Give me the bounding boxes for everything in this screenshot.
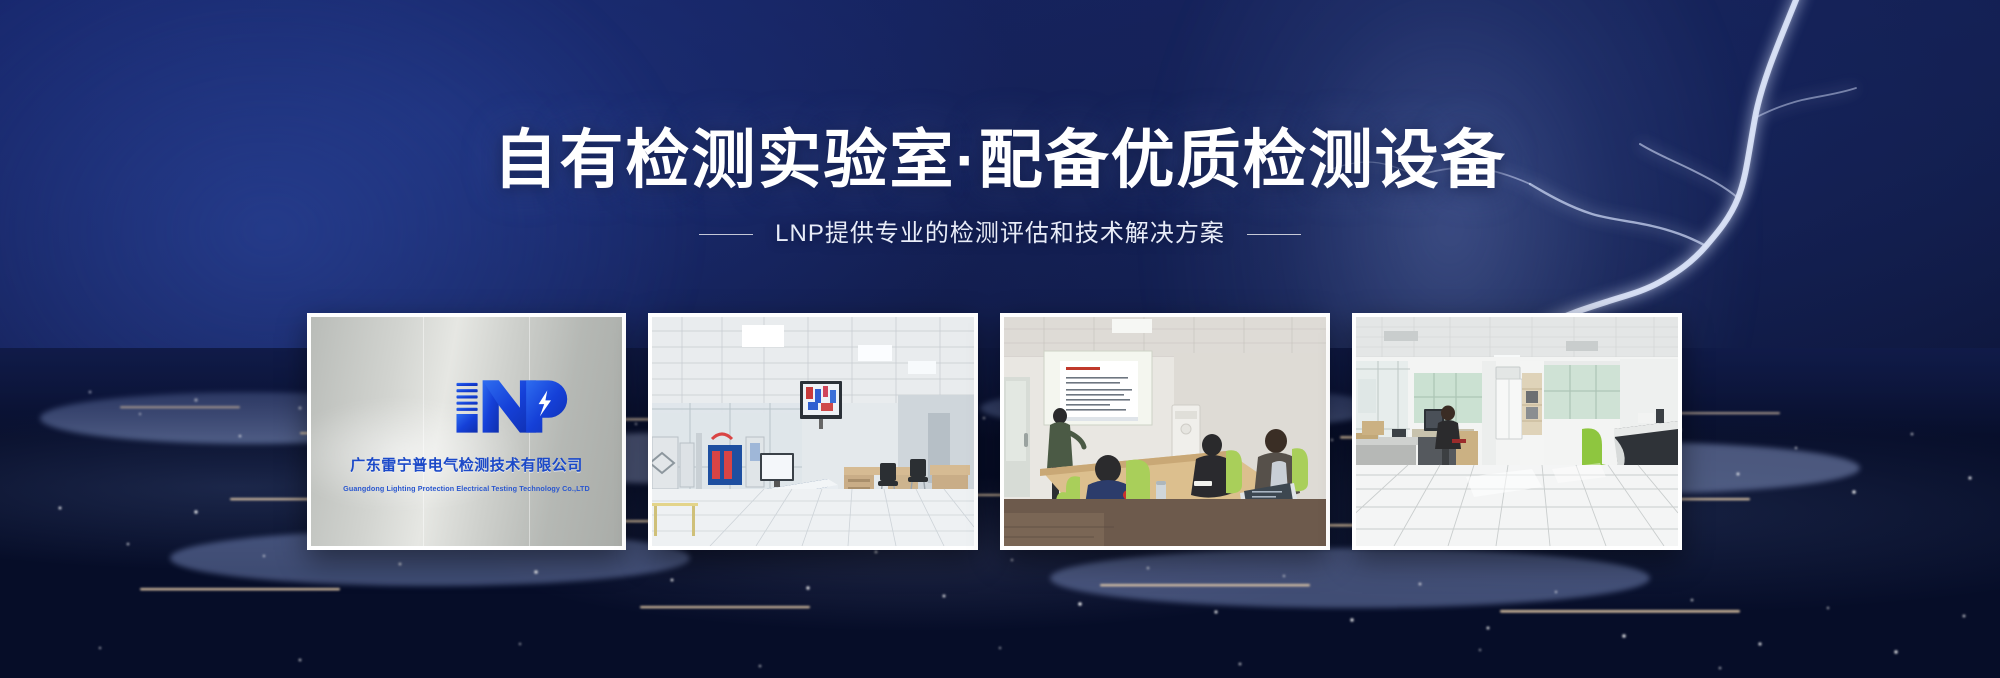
signage-company-name-cn: 广东雷宁普电气检测技术有限公司 bbox=[311, 454, 622, 475]
photo-strip: 广东雷宁普电气检测技术有限公司 Guangdong Lighting Prote… bbox=[307, 313, 1650, 550]
meeting-room-image bbox=[1004, 317, 1326, 546]
subtitle-row: LNP提供专业的检测评估和技术解决方案 bbox=[0, 222, 2000, 246]
page-subtitle: LNP提供专业的检测评估和技术解决方案 bbox=[775, 222, 1225, 246]
page-title: 自有检测实验室·配备优质检测设备 bbox=[0, 128, 2000, 192]
photo-lnp-signage[interactable]: 广东雷宁普电气检测技术有限公司 Guangdong Lighting Prote… bbox=[307, 313, 626, 550]
lnp-logo-icon bbox=[454, 367, 578, 445]
photo-meeting-room[interactable] bbox=[1000, 313, 1330, 550]
dash-right-icon bbox=[1247, 234, 1301, 235]
dash-left-icon bbox=[699, 234, 753, 235]
photo-office[interactable] bbox=[1352, 313, 1682, 550]
photo-testing-lab[interactable] bbox=[648, 313, 978, 550]
testing-lab-image bbox=[652, 317, 974, 546]
signage-company-name-en: Guangdong Lighting Protection Electrical… bbox=[311, 484, 622, 493]
office-image bbox=[1356, 317, 1678, 546]
hero-banner: 自有检测实验室·配备优质检测设备 LNP提供专业的检测评估和技术解决方案 bbox=[0, 0, 2000, 678]
headline-block: 自有检测实验室·配备优质检测设备 LNP提供专业的检测评估和技术解决方案 bbox=[0, 128, 2000, 246]
